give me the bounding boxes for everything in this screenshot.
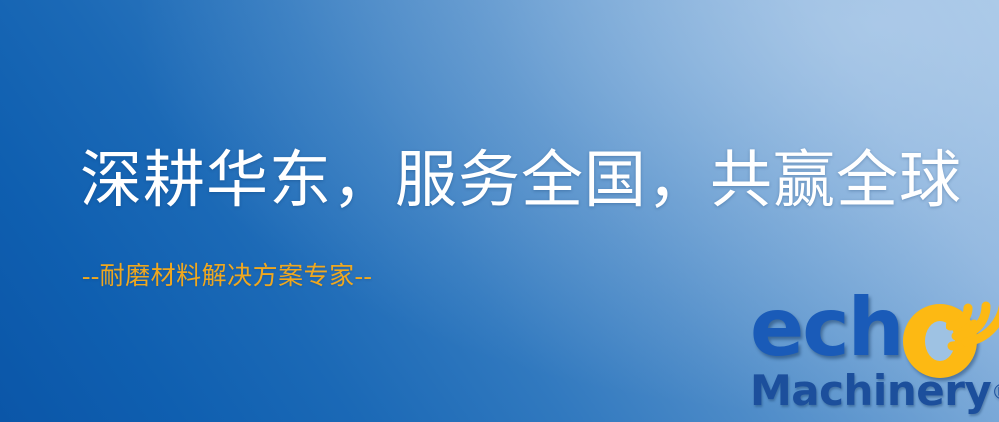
logo-machinery-text: Machinery® bbox=[750, 370, 999, 412]
signal-waves-icon bbox=[946, 290, 999, 354]
logo-ech-text: ech bbox=[750, 288, 903, 368]
hero-banner: 深耕华东，服务全国，共赢全球 --耐磨材料解决方案专家-- ech Machin… bbox=[0, 0, 999, 422]
banner-subtitle: --耐磨材料解决方案专家-- bbox=[82, 264, 372, 289]
banner-headline: 深耕华东，服务全国，共赢全球 bbox=[80, 150, 940, 212]
echo-machinery-logo[interactable]: ech Machinery® bbox=[748, 296, 999, 422]
logo-wordmark: ech bbox=[748, 296, 999, 370]
registered-trademark-icon: ® bbox=[991, 380, 999, 404]
logo-machinery-label: Machinery bbox=[750, 366, 991, 415]
